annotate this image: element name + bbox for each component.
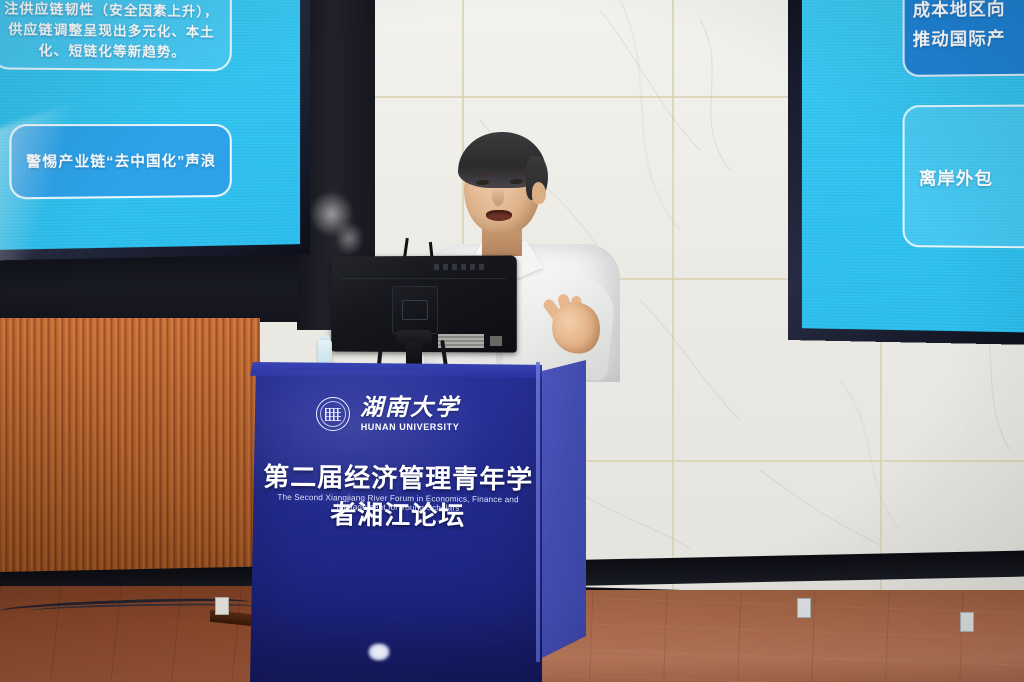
university-wordmark: 湖南大学 HUNAN UNIVERSITY — [360, 396, 460, 432]
monitor-vesa-inner — [402, 300, 428, 320]
university-logo-row: 湖南大学 HUNAN UNIVERSITY — [316, 388, 496, 440]
slide-box-supply-chain: 疫情、中美贸易战等促使各方关注供应链韧性（安全因素上升），供应链调整呈现出多元化… — [0, 0, 232, 71]
monitor-vent — [434, 264, 488, 270]
mouth — [486, 210, 512, 221]
slide-line-1: 成本地区向 — [913, 0, 1006, 26]
slide-line-2: 推动国际产 — [913, 25, 1006, 56]
screen-surface: 疫情、中美贸易战等促使各方关注供应链韧性（安全因素上升），供应链调整呈现出多元化… — [0, 0, 300, 250]
monitor-port-label — [490, 336, 502, 346]
wall-outlet — [215, 597, 229, 615]
lectern-indicator-light — [368, 643, 390, 661]
left-projection-screen: 疫情、中美贸易战等促使各方关注供应链韧性（安全因素上升），供应链调整呈现出多元化… — [0, 0, 310, 261]
university-name-cn: 湖南大学 — [360, 396, 460, 419]
monitor-seam — [340, 278, 506, 279]
slide-box-cost-region: 成本地区向 推动国际产 — [903, 0, 1024, 77]
conference-photo: 疫情、中美贸易战等促使各方关注供应链韧性（安全因素上升），供应链调整呈现出多元化… — [0, 0, 1024, 682]
event-title-en: The Second Xiangjiang River Forum in Eco… — [256, 493, 540, 514]
lectern-side-panel — [538, 360, 586, 660]
wall-outlet — [797, 598, 811, 618]
slide-box-offshore-outsourcing: 离岸外包 — [903, 104, 1024, 249]
monitor-rear — [330, 256, 516, 368]
ear — [532, 182, 546, 204]
lectern: 湖南大学 HUNAN UNIVERSITY 第二届经济管理青年学者湘江论坛 Th… — [250, 360, 588, 682]
wall-outlet — [960, 612, 974, 632]
hunan-university-seal-icon — [316, 397, 350, 431]
screen-surface: 成本地区向 推动国际产 离岸外包 — [802, 0, 1024, 333]
university-name-en: HUNAN UNIVERSITY — [361, 422, 460, 432]
wood-slat-shading — [0, 318, 260, 576]
nose — [492, 186, 504, 206]
right-projection-screen: 成本地区向 推动国际产 离岸外包 — [788, 0, 1024, 345]
